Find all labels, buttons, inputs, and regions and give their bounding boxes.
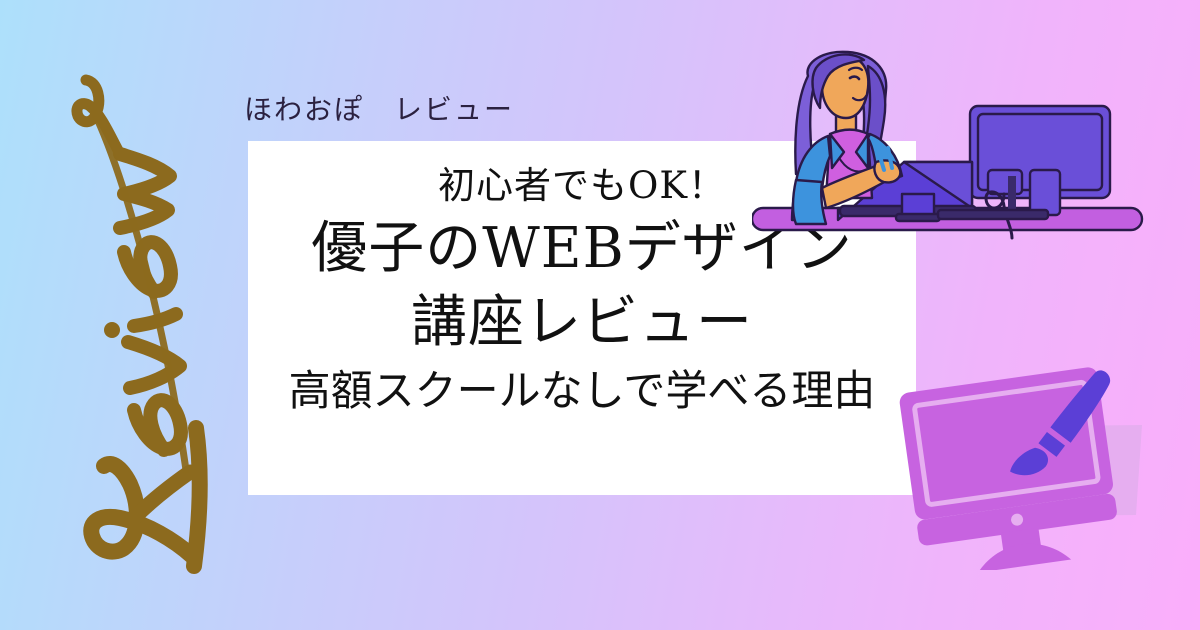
woman-designer-at-desk-illustration (752, 48, 1162, 243)
title-line-3: 高額スクールなしで学べる理由 (248, 360, 916, 422)
title-line-2: 講座レビュー (248, 286, 916, 360)
kicker-text: ほわおぽ レビュー (244, 88, 514, 128)
review-script-word (68, 80, 208, 580)
poster-canvas: ほわおぽ レビュー 初心者でもOK！ 優子のWEBデザイン 講座レビュー 高額ス… (0, 0, 1200, 630)
monitor-paintbrush-illustration (890, 355, 1160, 570)
